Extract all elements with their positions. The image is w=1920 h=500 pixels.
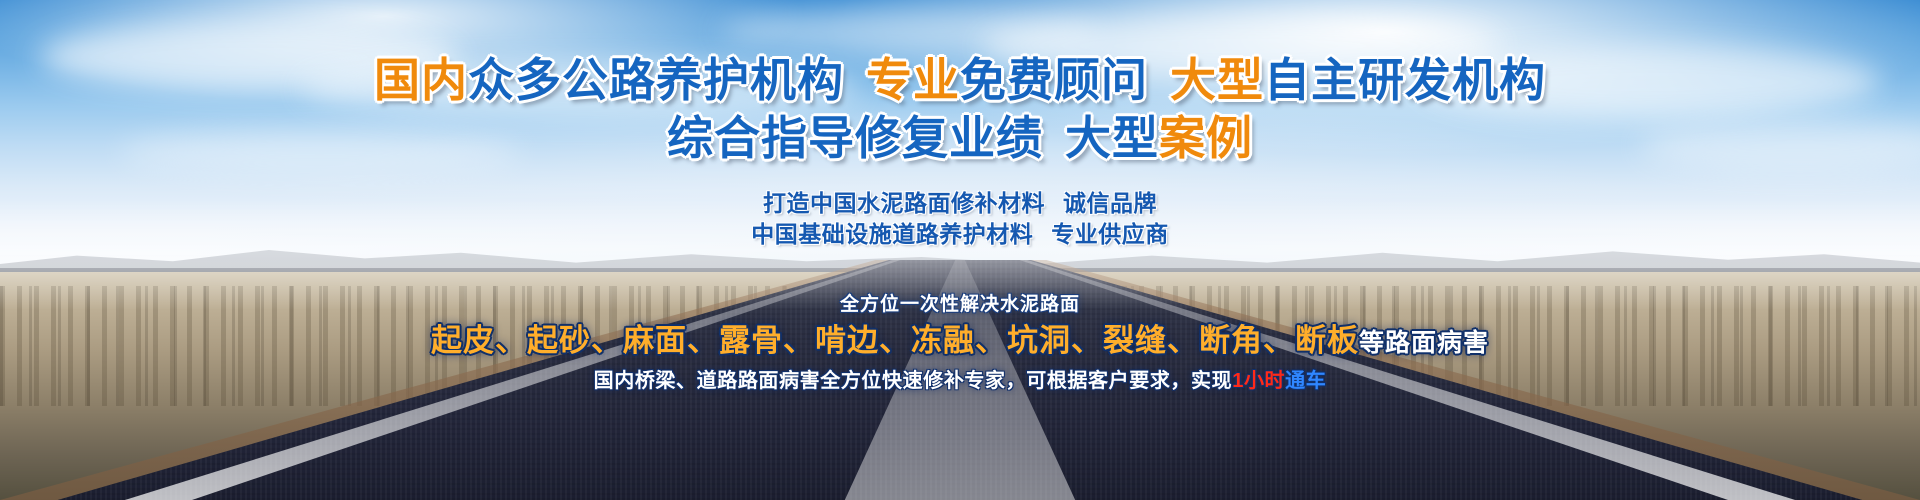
headline-seg-mianfei: 免费顾问: [960, 54, 1148, 106]
defects-list: 起皮、起砂、麻面、露骨、啃边、冻融、坑洞、裂缝、断角、断板: [431, 323, 1359, 358]
headline-seg-daxing: 大型: [1170, 54, 1264, 106]
subtitle-line-1: 打造中国水泥路面修补材料诚信品牌: [0, 188, 1920, 219]
defects-suffix: 等路面病害: [1359, 329, 1489, 357]
subtitle-1-a: 打造中国水泥路面修补材料: [763, 190, 1045, 216]
promo-banner: 国内众多公路养护机构专业免费顾问大型自主研发机构 综合指导修复业绩大型案例 打造…: [0, 0, 1920, 500]
bottom-defects-line: 起皮、起砂、麻面、露骨、啃边、冻融、坑洞、裂缝、断角、断板等路面病害: [0, 320, 1920, 364]
bottom-closing-line: 国内桥梁、道路路面病害全方位快速修补专家，可根据客户要求，实现1小时通车: [0, 367, 1920, 395]
bottom-block: 全方位一次性解决水泥路面 起皮、起砂、麻面、露骨、啃边、冻融、坑洞、裂缝、断角、…: [0, 292, 1920, 395]
headline-seg-zonghe: 综合指导修复业绩: [667, 112, 1043, 164]
headline-line-1: 国内众多公路养护机构专业免费顾问大型自主研发机构: [0, 44, 1920, 110]
headline-line-2: 综合指导修复业绩大型案例: [0, 102, 1920, 168]
headline-seg-anli: 案例: [1159, 112, 1253, 164]
subtitle-2-a: 中国基础设施道路养护材料: [751, 221, 1033, 247]
subtitle-1-b: 诚信品牌: [1063, 190, 1157, 216]
subtitle-2-b: 专业供应商: [1051, 221, 1169, 247]
headline-seg-daxing-2: 大型: [1065, 112, 1159, 164]
bottom-lead-line: 全方位一次性解决水泥路面: [0, 292, 1920, 318]
headline-seg-zhuanye: 专业: [866, 54, 960, 106]
headline-seg-zhongduo: 众多公路养护机构: [468, 54, 844, 106]
headline-seg-zizhu: 自主研发机构: [1264, 54, 1546, 106]
closing-text-b: 通车: [1285, 370, 1326, 392]
closing-highlight-duration: 1小时: [1232, 370, 1285, 392]
banner-content: 国内众多公路养护机构专业免费顾问大型自主研发机构 综合指导修复业绩大型案例 打造…: [0, 0, 1920, 500]
headline-seg-guonei: 国内: [374, 54, 468, 106]
subtitle-line-2: 中国基础设施道路养护材料专业供应商: [0, 219, 1920, 250]
closing-text-a: 国内桥梁、道路路面病害全方位快速修补专家，可根据客户要求，实现: [594, 370, 1233, 392]
subtitle-block: 打造中国水泥路面修补材料诚信品牌 中国基础设施道路养护材料专业供应商: [0, 188, 1920, 250]
